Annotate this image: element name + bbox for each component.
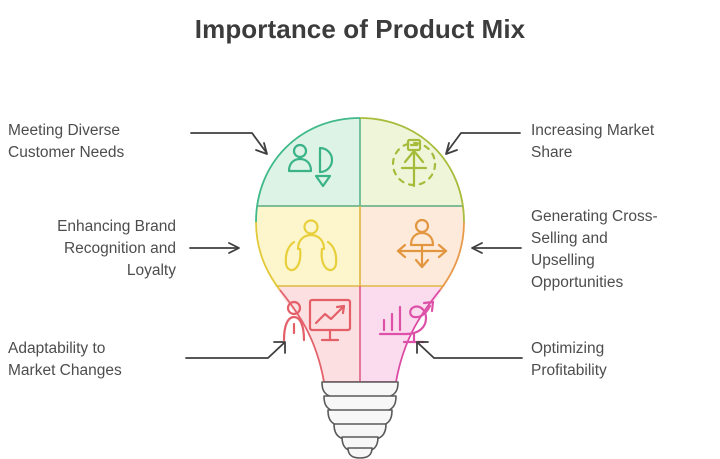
label-meeting-diverse-customer-needs: Meeting Diverse Customer Needs <box>8 120 173 164</box>
label-adaptability-to-market-changes: Adaptability to Market Changes <box>8 338 173 382</box>
page-title: Importance of Product Mix <box>0 14 720 45</box>
infographic-canvas: Importance of Product Mix Meeting Divers… <box>0 0 720 459</box>
label-increasing-market-share: Increasing Market Share <box>531 120 713 164</box>
arrow-middle-left <box>190 243 239 253</box>
label-optimizing-profitability: Optimizing Profitability <box>531 338 711 382</box>
base-tip <box>348 448 372 458</box>
segment-bottom-left-fill <box>240 286 360 396</box>
label-generating-cross-selling-upselling: Generating Cross- Selling and Upselling … <box>531 206 716 294</box>
bulb-screw-base <box>322 382 398 458</box>
label-enhancing-brand-recognition-loyalty: Enhancing Brand Recognition and Loyalty <box>6 216 176 282</box>
lightbulb-diagram <box>240 110 480 459</box>
